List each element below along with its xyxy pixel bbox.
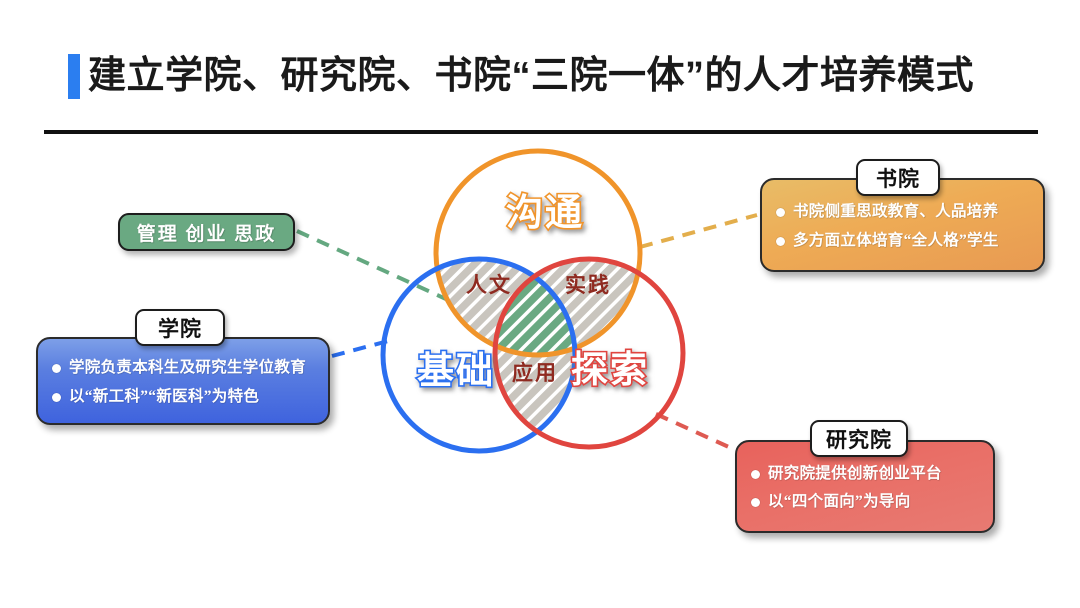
bullet-dot-icon (52, 393, 61, 402)
callout-academy-bullet-2: 以“新工科”“新医科”为特色 (52, 387, 314, 406)
slide-canvas: 建立学院、研究院、书院“三院一体”的人才培养模式 (0, 0, 1080, 608)
callout-academy-bullet-1: 学院负责本科生及研究生学位教育 (52, 358, 314, 377)
bullet-dot-icon (776, 237, 785, 246)
callout-institute-bullet-2: 以“四个面向”为导向 (751, 492, 979, 511)
callout-academy[interactable]: 学院负责本科生及研究生学位教育 以“新工科”“新医科”为特色 (36, 337, 330, 425)
pill-management-entrepreneurship-ideology[interactable]: 管理 创业 思政 (118, 213, 295, 251)
callout-college-bullet-1-text: 书院侧重思政教育、人品培养 (793, 202, 998, 221)
callout-academy-bullet-1-text: 学院负责本科生及研究生学位教育 (69, 358, 306, 377)
callout-academy-bullet-2-text: 以“新工科”“新医科”为特色 (69, 387, 259, 406)
venn-label-exploration: 探索 (571, 349, 649, 390)
venn-diagram: 沟通 基础 探索 人文 实践 应用 (360, 140, 700, 470)
title-divider (44, 130, 1038, 134)
venn-label-communication: 沟通 (506, 192, 584, 233)
bullet-dot-icon (776, 208, 785, 217)
venn-label-foundation: 基础 (417, 350, 495, 391)
chip-institute[interactable]: 研究院 (810, 420, 908, 457)
callout-college-bullet-1: 书院侧重思政教育、人品培养 (776, 202, 1029, 221)
page-title: 建立学院、研究院、书院“三院一体”的人才培养模式 (88, 50, 1038, 104)
venn-label-humanities: 人文 (466, 273, 512, 297)
bullet-dot-icon (751, 498, 760, 507)
callout-college-bullet-2: 多方面立体培育“全人格”学生 (776, 231, 1029, 250)
venn-label-application: 应用 (512, 361, 558, 385)
callout-institute-bullet-1: 研究院提供创新创业平台 (751, 464, 979, 483)
bullet-dot-icon (52, 364, 61, 373)
chip-college[interactable]: 书院 (856, 159, 940, 196)
bullet-dot-icon (751, 470, 760, 479)
chip-academy[interactable]: 学院 (135, 309, 225, 346)
title-accent-bar (68, 54, 80, 99)
callout-institute-bullet-1-text: 研究院提供创新创业平台 (768, 464, 942, 483)
venn-label-practice: 实践 (565, 273, 611, 297)
callout-institute-bullet-2-text: 以“四个面向”为导向 (768, 492, 911, 511)
callout-college-bullet-2-text: 多方面立体培育“全人格”学生 (793, 231, 999, 250)
